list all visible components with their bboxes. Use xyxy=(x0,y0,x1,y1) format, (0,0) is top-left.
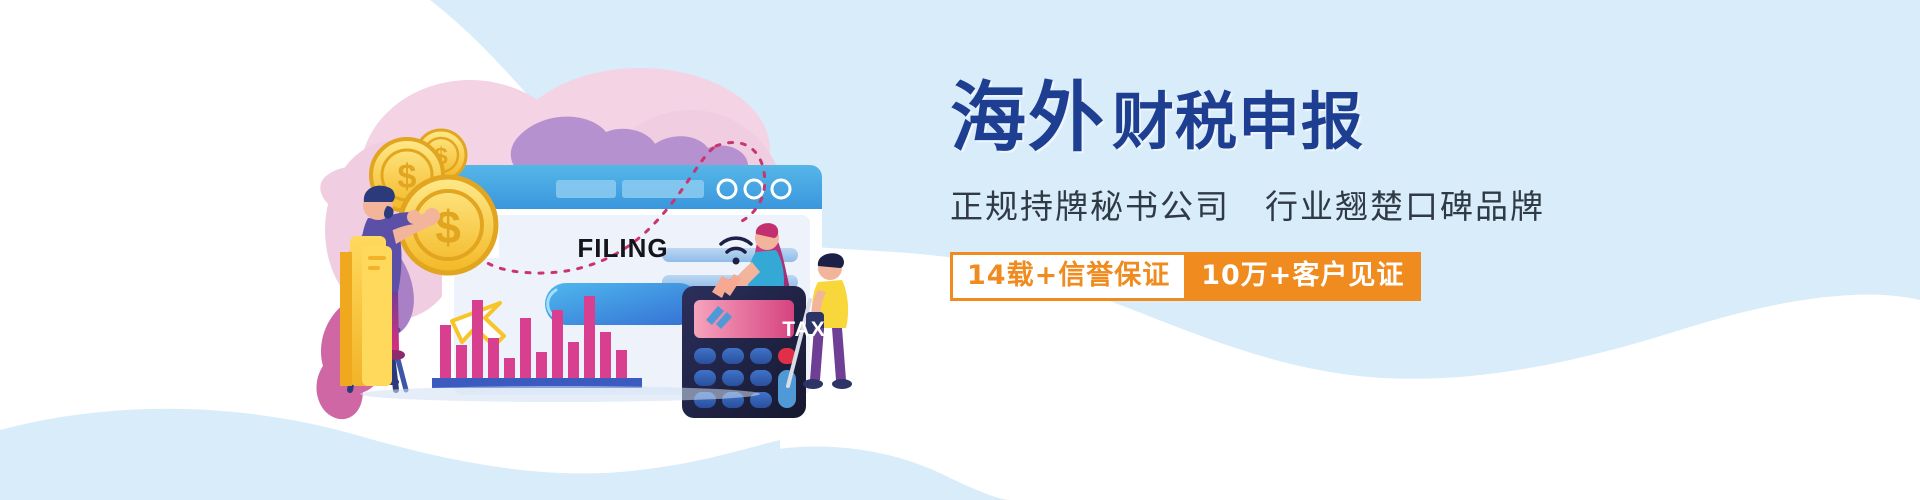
status-badge-clients: 10万+客户见证 xyxy=(1184,252,1421,301)
badge-group: 14载+信誉保证 10万+客户见证 xyxy=(950,252,1421,301)
status-badge-credibility: 14载+信誉保证 xyxy=(950,252,1184,301)
promo-banner: $ $ $ xyxy=(0,0,1920,500)
subtitle: 正规持牌秘书公司 行业翘楚口碑品牌 xyxy=(950,180,1545,228)
svg-text:$: $ xyxy=(435,201,461,253)
headline-secondary: 财税申报 xyxy=(1112,91,1364,156)
filing-button xyxy=(545,283,700,325)
document-stack xyxy=(340,236,392,386)
copy-block: 海外 财税申报 正规持牌秘书公司 行业翘楚口碑品牌 14载+信誉保证 10万+客… xyxy=(950,80,1670,380)
headline-primary: 海外 xyxy=(950,80,1106,156)
page-title: 海外 财税申报 xyxy=(950,80,1364,156)
